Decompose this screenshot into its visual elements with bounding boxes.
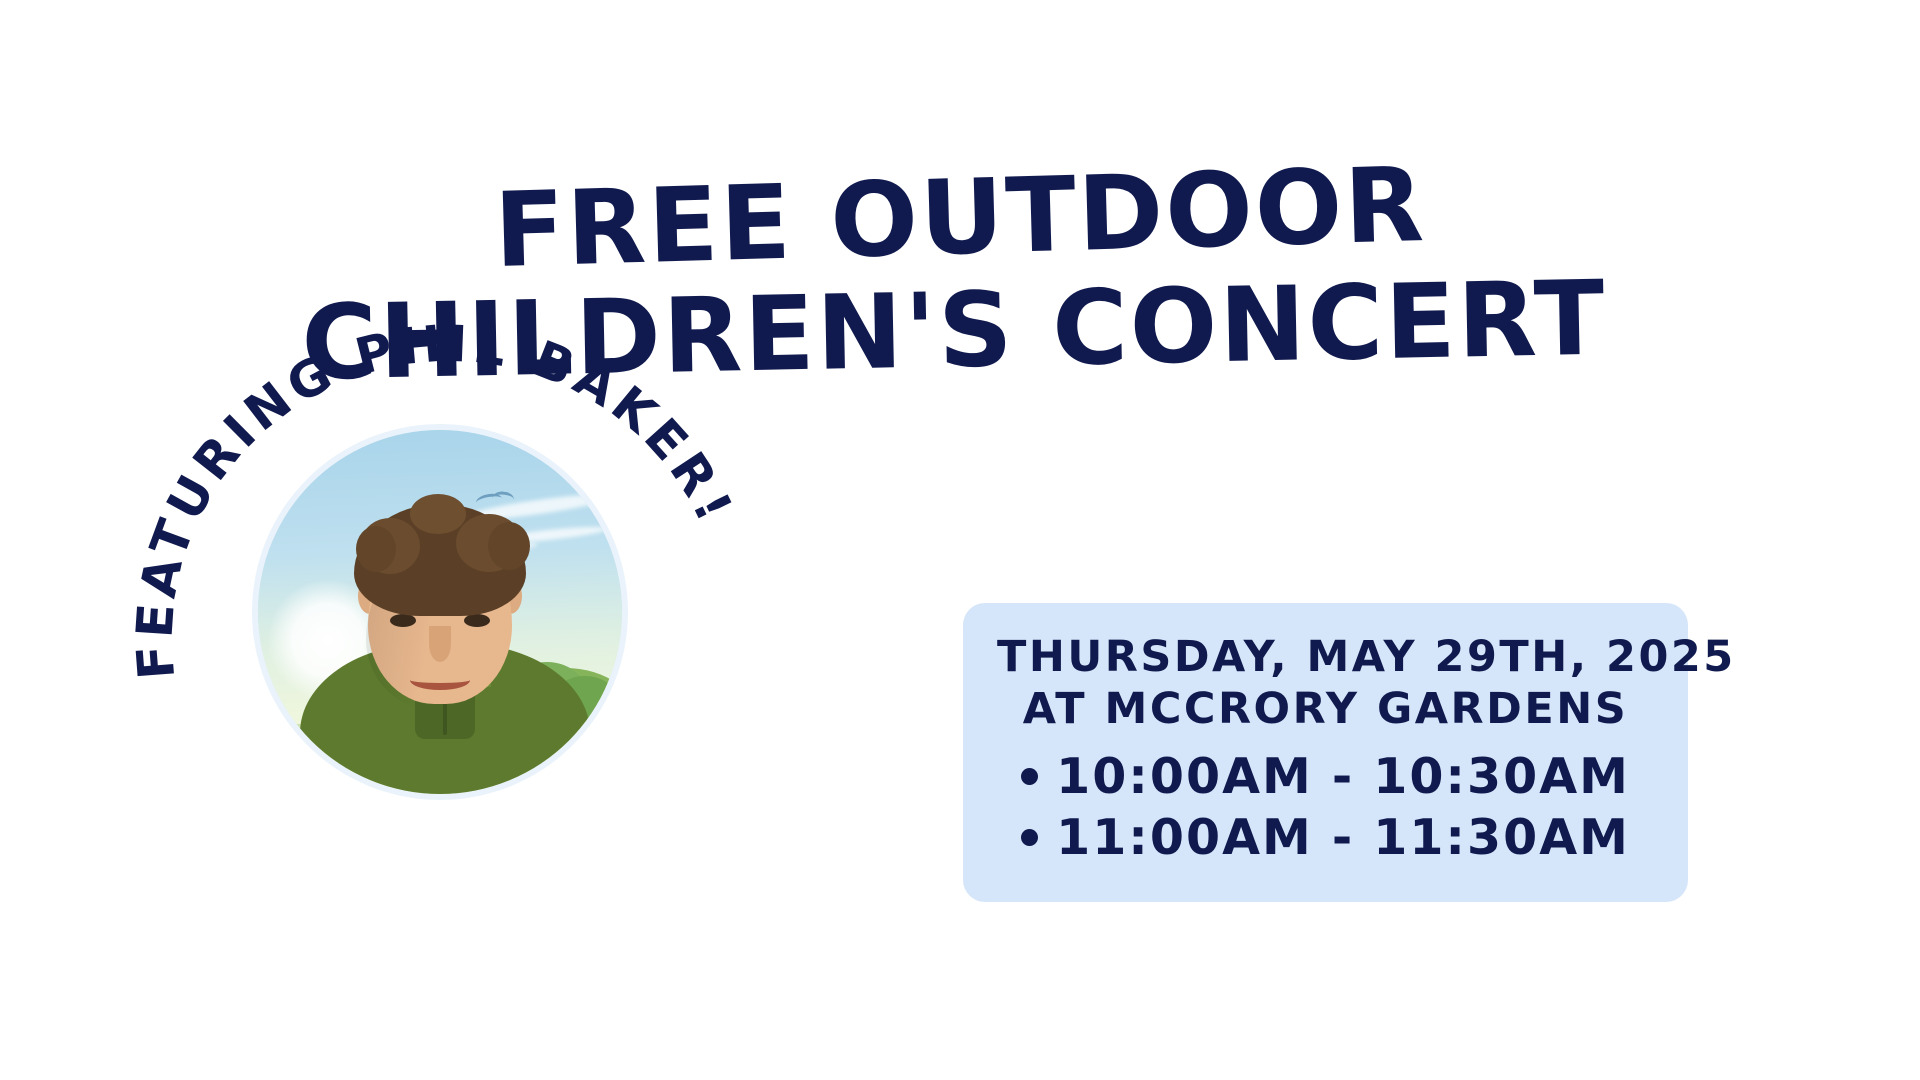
time-slot-label: 11:00AM - 11:30AM: [1056, 807, 1630, 868]
title-line-1: FREE OUTDOOR: [0, 138, 1920, 299]
person-figure: [258, 430, 622, 794]
event-times-list: 10:00AM - 10:30AM 11:00AM - 11:30AM: [997, 746, 1654, 869]
page-title: FREE OUTDOOR CHILDREN'S CONCERT: [0, 165, 1920, 385]
eye-shape: [464, 614, 490, 627]
time-slot-label: 10:00AM - 10:30AM: [1056, 746, 1630, 807]
bullet-icon: [1021, 768, 1038, 785]
title-line-2: CHILDREN'S CONCERT: [0, 260, 1915, 404]
bullet-icon: [1021, 829, 1038, 846]
eye-shape: [390, 614, 416, 627]
list-item: 11:00AM - 11:30AM: [1021, 807, 1630, 868]
avatar: [258, 430, 622, 794]
event-flyer: FREE OUTDOOR CHILDREN'S CONCERT FEATURIN…: [0, 0, 1920, 1080]
hair-curl: [410, 494, 466, 534]
event-date: THURSDAY, MAY 29TH, 2025: [997, 631, 1654, 683]
list-item: 10:00AM - 10:30AM: [1021, 746, 1630, 807]
nose-shape: [429, 626, 451, 662]
hair-curl: [356, 526, 396, 572]
event-venue: AT MCCRORY GARDENS: [997, 683, 1654, 735]
mouth-shape: [410, 670, 470, 690]
hair-curl: [488, 522, 530, 570]
event-details-card: THURSDAY, MAY 29TH, 2025 AT MCCRORY GARD…: [963, 603, 1688, 902]
